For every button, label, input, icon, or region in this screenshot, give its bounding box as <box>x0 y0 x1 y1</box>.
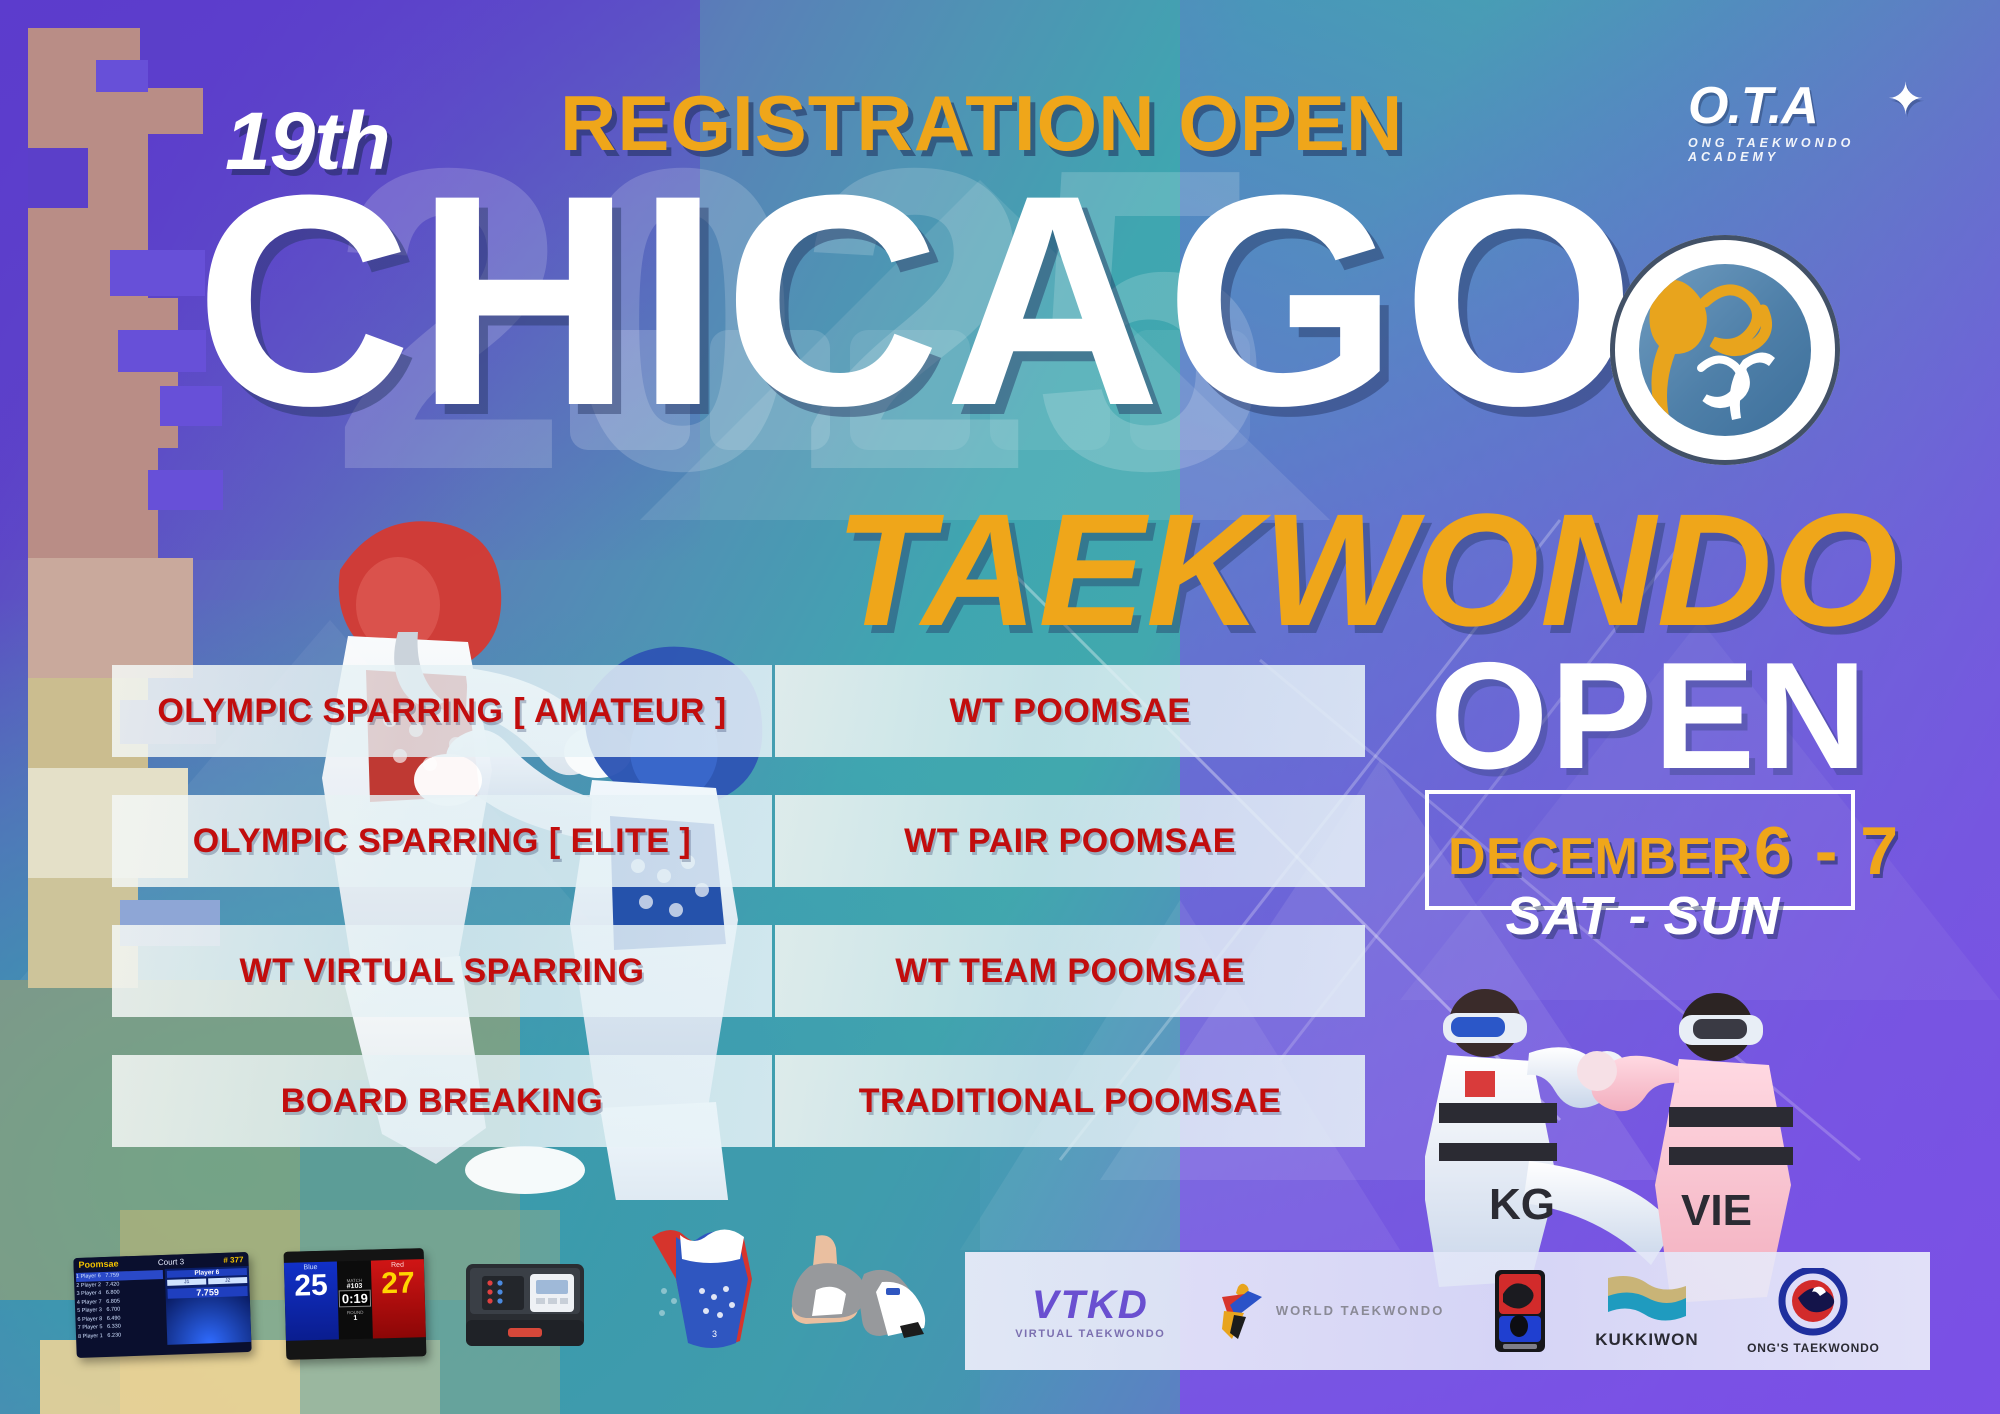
sponsor-bar: VTKD VIRTUAL TAEKWONDO WORLD TAEKWONDO <box>965 1252 1930 1370</box>
star-icon: ✦ <box>1887 78 1924 122</box>
page-title-city: CHICAGO <box>195 150 1640 450</box>
event-box-traditional-poomsae[interactable]: TRADITIONAL POOMSAE <box>775 1055 1365 1147</box>
event-label: OLYMPIC SPARRING [ ELITE ] <box>193 822 691 861</box>
sponsor-kukkiwon[interactable]: KUKKIWON <box>1595 1272 1698 1350</box>
sponsor-vtkd-mark: VTKD <box>1032 1283 1149 1328</box>
athlete-label-right: VIE <box>1681 1186 1752 1235</box>
event-date-line: DECEMBER 6 - 7 <box>1448 812 1838 890</box>
photo-scoring-console-case <box>460 1250 590 1360</box>
svg-text:3: 3 <box>712 1329 717 1339</box>
ota-logo-mark: O.T.A <box>1688 80 1918 132</box>
event-box-wt-poomsae[interactable]: WT POOMSAE <box>775 665 1365 757</box>
taekwondo-emblem-logo <box>1610 235 1840 465</box>
event-date-days: 6 - 7 <box>1754 813 1900 889</box>
poomsae-board-court: Court 3 <box>158 1257 185 1267</box>
event-label: TRADITIONAL POOMSAE <box>859 1082 1282 1121</box>
event-label: WT PAIR POOMSAE <box>904 822 1236 861</box>
event-box-wt-pair-poomsae[interactable]: WT PAIR POOMSAE <box>775 795 1365 887</box>
world-taekwondo-icon <box>1214 1281 1266 1341</box>
sparring-scoreboard-screen: Blue 25 MATCH #103 0:19 ROUND 1 Red 27 <box>284 1248 427 1360</box>
sponsor-world-taekwondo[interactable]: WORLD TAEKWONDO <box>1214 1281 1444 1341</box>
sparring-clock: 0:19 <box>339 1290 371 1308</box>
ota-logo[interactable]: O.T.A ONG TAEKWONDO ACADEMY ✦ <box>1688 80 1918 156</box>
event-label: WT POOMSAE <box>949 692 1190 731</box>
sponsor-vtkd[interactable]: VTKD VIRTUAL TAEKWONDO <box>1015 1283 1165 1340</box>
poomsae-board-score: 7.759 <box>167 1286 247 1299</box>
page-title-open: OPEN <box>1430 640 1869 792</box>
photo-electronic-hogu: 3 <box>640 1215 770 1360</box>
kicking-figures-icon <box>1639 264 1811 436</box>
ongs-taekwondo-icon <box>1778 1268 1848 1338</box>
sponsor-world-taekwondo-label: WORLD TAEKWONDO <box>1276 1303 1444 1319</box>
sparring-blue-score: 25 <box>284 1270 338 1301</box>
sponsor-vtkd-label: VIRTUAL TAEKWONDO <box>1015 1328 1165 1340</box>
poomsae-scoreboard-screen: Poomsae Court 3 # 377 1 Player 6 7.759 2… <box>73 1252 251 1358</box>
sponsor-kukkiwon-label: KUKKIWON <box>1595 1330 1698 1350</box>
event-box-olympic-sparring-elite[interactable]: OLYMPIC SPARRING [ ELITE ] <box>112 795 772 887</box>
event-box-olympic-sparring-amateur[interactable]: OLYMPIC SPARRING [ AMATEUR ] <box>112 665 772 757</box>
ota-logo-subtitle: ONG TAEKWONDO ACADEMY <box>1688 136 1918 164</box>
page-title-sport: TAEKWONDO <box>835 490 1899 650</box>
sparring-red-score: 27 <box>371 1268 425 1299</box>
sponsor-ongs-taekwondo[interactable]: ONG'S TAEKWONDO <box>1747 1268 1880 1355</box>
event-weekdays: SAT - SUN <box>1448 885 1838 947</box>
poomsae-board-leader: Player 6 <box>167 1268 247 1278</box>
event-date-month: DECEMBER <box>1448 828 1750 886</box>
event-box-board-breaking[interactable]: BOARD BREAKING <box>112 1055 772 1147</box>
sponsor-ongs-label: ONG'S TAEKWONDO <box>1747 1341 1880 1355</box>
event-label: BOARD BREAKING <box>281 1082 603 1121</box>
event-box-wt-virtual-sparring[interactable]: WT VIRTUAL SPARRING <box>112 925 772 1017</box>
event-label: OLYMPIC SPARRING [ AMATEUR ] <box>157 692 726 731</box>
athlete-label-left: KG <box>1489 1180 1555 1229</box>
photo-electronic-foot-socks <box>790 1230 935 1355</box>
poomsae-board-title: Poomsae <box>78 1259 118 1270</box>
daedo-device-icon <box>1493 1268 1547 1354</box>
kukkiwon-icon <box>1604 1272 1690 1328</box>
poomsae-board-match: # 377 <box>223 1255 243 1265</box>
event-box-wt-team-poomsae[interactable]: WT TEAM POOMSAE <box>775 925 1365 1017</box>
event-label: WT VIRTUAL SPARRING <box>240 952 645 991</box>
sponsor-daedo[interactable] <box>1493 1268 1547 1354</box>
taekwondo-emblem-inner <box>1639 264 1811 436</box>
sparring-round-no: 1 <box>353 1315 357 1322</box>
poster-canvas: 2025 <box>0 0 2000 1414</box>
event-label: WT TEAM POOMSAE <box>895 952 1244 991</box>
